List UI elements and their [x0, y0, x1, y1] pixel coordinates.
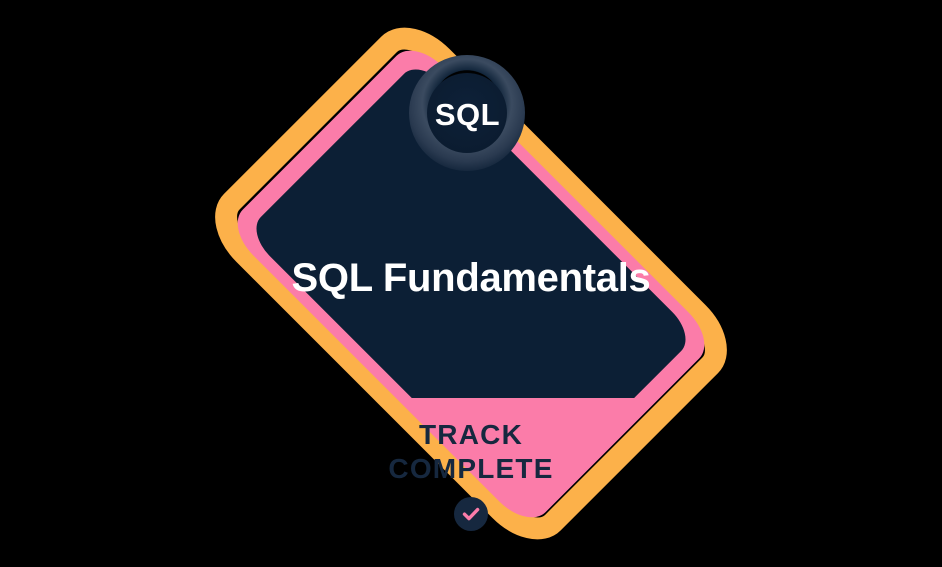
sql-emblem-rings [409, 55, 525, 171]
track-badge[interactable]: SQL SQL Fundamentals TRACK COMPLETE [0, 0, 942, 567]
badge-shape-graphic [0, 0, 942, 567]
